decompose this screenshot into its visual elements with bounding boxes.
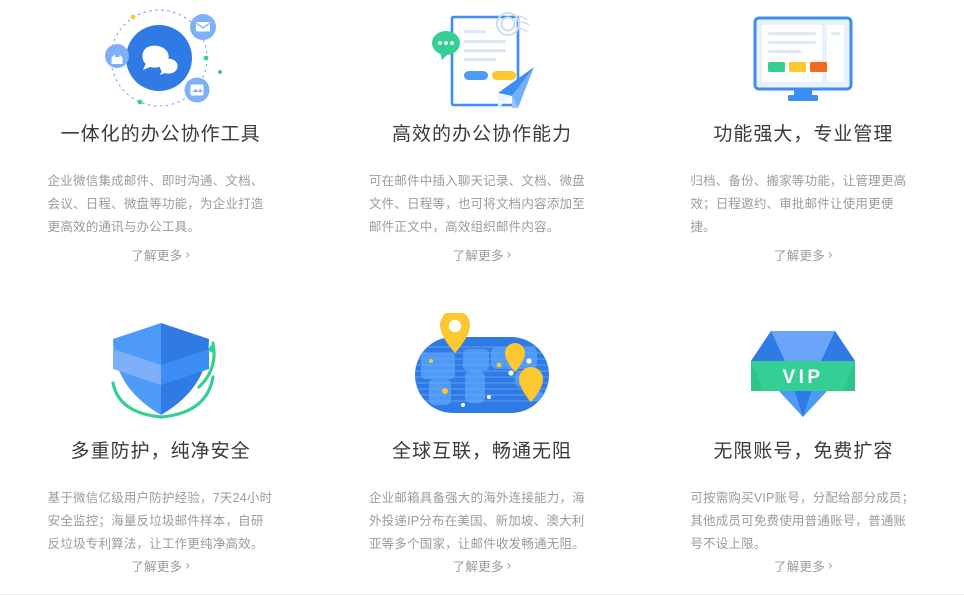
card-title: 一体化的办公协作工具 xyxy=(61,122,261,148)
learn-more-link[interactable]: 了解更多 › xyxy=(453,245,512,264)
card-description: 归档、备份、搬家等功能，让管理更高效；日程邀约、审批邮件让使用更便捷。 xyxy=(690,170,916,239)
feature-card-unlimited-accounts[interactable]: VIP 无限账号，免费扩容 可按需购买VIP账号，分配给部分成员；其他成员可免费… xyxy=(643,309,964,595)
feature-card-efficient-collaboration[interactable]: 高效的办公协作能力 可在邮件中插入聊天记录、文档、微盘文件、日程等，也可将文档内… xyxy=(321,0,642,309)
feature-card-integrated-office-tool[interactable]: 一体化的办公协作工具 企业微信集成邮件、即时沟通、文档、会议、日程、微盘等功能，… xyxy=(0,0,321,309)
card-description: 企业邮箱具备强大的海外连接能力，海外投递IP分布在美国、新加坡、澳大利亚等多个国… xyxy=(369,487,595,556)
chevron-right-icon: › xyxy=(507,248,512,261)
card-description: 可在邮件中插入聊天记录、文档、微盘文件、日程等，也可将文档内容添加至邮件正文中，… xyxy=(369,170,595,239)
card-title: 高效的办公协作能力 xyxy=(392,122,572,148)
learn-more-link[interactable]: 了解更多 › xyxy=(453,556,512,575)
features-page: 一体化的办公协作工具 企业微信集成邮件、即时沟通、文档、会议、日程、微盘等功能，… xyxy=(0,0,964,595)
chevron-right-icon: › xyxy=(828,248,833,261)
desktop-monitor-icon xyxy=(698,4,908,116)
learn-more-label: 了解更多 xyxy=(453,556,504,575)
features-grid: 一体化的办公协作工具 企业微信集成邮件、即时沟通、文档、会议、日程、微盘等功能，… xyxy=(0,0,964,595)
card-description: 基于微信亿级用户防护经验，7天24小时安全监控；海量反垃圾邮件样本，自研反垃圾专… xyxy=(48,487,274,556)
chevron-right-icon: › xyxy=(507,559,512,572)
card-title: 多重防护，纯净安全 xyxy=(71,439,251,465)
feature-card-global-connectivity[interactable]: 全球互联，畅通无阻 企业邮箱具备强大的海外连接能力，海外投递IP分布在美国、新加… xyxy=(321,309,642,595)
learn-more-link[interactable]: 了解更多 › xyxy=(774,245,833,264)
chevron-right-icon: › xyxy=(185,559,190,572)
chat-bubble-orbit-icon xyxy=(56,4,266,116)
card-description: 可按需购买VIP账号，分配给部分成员；其他成员可免费使用普通账号，普通账号不设上… xyxy=(690,487,916,556)
card-description: 企业微信集成邮件、即时沟通、文档、会议、日程、微盘等功能，为企业打造更高效的通讯… xyxy=(48,170,274,239)
world-map-pins-icon xyxy=(377,313,587,429)
card-title: 功能强大，专业管理 xyxy=(713,122,893,148)
learn-more-link[interactable]: 了解更多 › xyxy=(774,556,833,575)
learn-more-label: 了解更多 xyxy=(453,245,504,264)
vip-diamond-icon: VIP xyxy=(698,313,908,429)
chevron-right-icon: › xyxy=(185,248,190,261)
learn-more-label: 了解更多 xyxy=(131,556,182,575)
card-title: 无限账号，免费扩容 xyxy=(713,439,893,465)
learn-more-link[interactable]: 了解更多 › xyxy=(131,245,190,264)
feature-card-multi-layer-security[interactable]: 多重防护，纯净安全 基于微信亿级用户防护经验，7天24小时安全监控；海量反垃圾邮… xyxy=(0,309,321,595)
vip-badge-text: VIP xyxy=(783,367,824,388)
learn-more-link[interactable]: 了解更多 › xyxy=(131,556,190,575)
document-paper-plane-icon xyxy=(377,4,587,116)
learn-more-label: 了解更多 xyxy=(774,556,825,575)
learn-more-label: 了解更多 xyxy=(131,245,182,264)
feature-card-powerful-management[interactable]: 功能强大，专业管理 归档、备份、搬家等功能，让管理更高效；日程邀约、审批邮件让使… xyxy=(643,0,964,309)
card-title: 全球互联，畅通无阻 xyxy=(392,439,572,465)
learn-more-label: 了解更多 xyxy=(774,245,825,264)
shield-orbit-icon xyxy=(56,313,266,429)
chevron-right-icon: › xyxy=(828,559,833,572)
